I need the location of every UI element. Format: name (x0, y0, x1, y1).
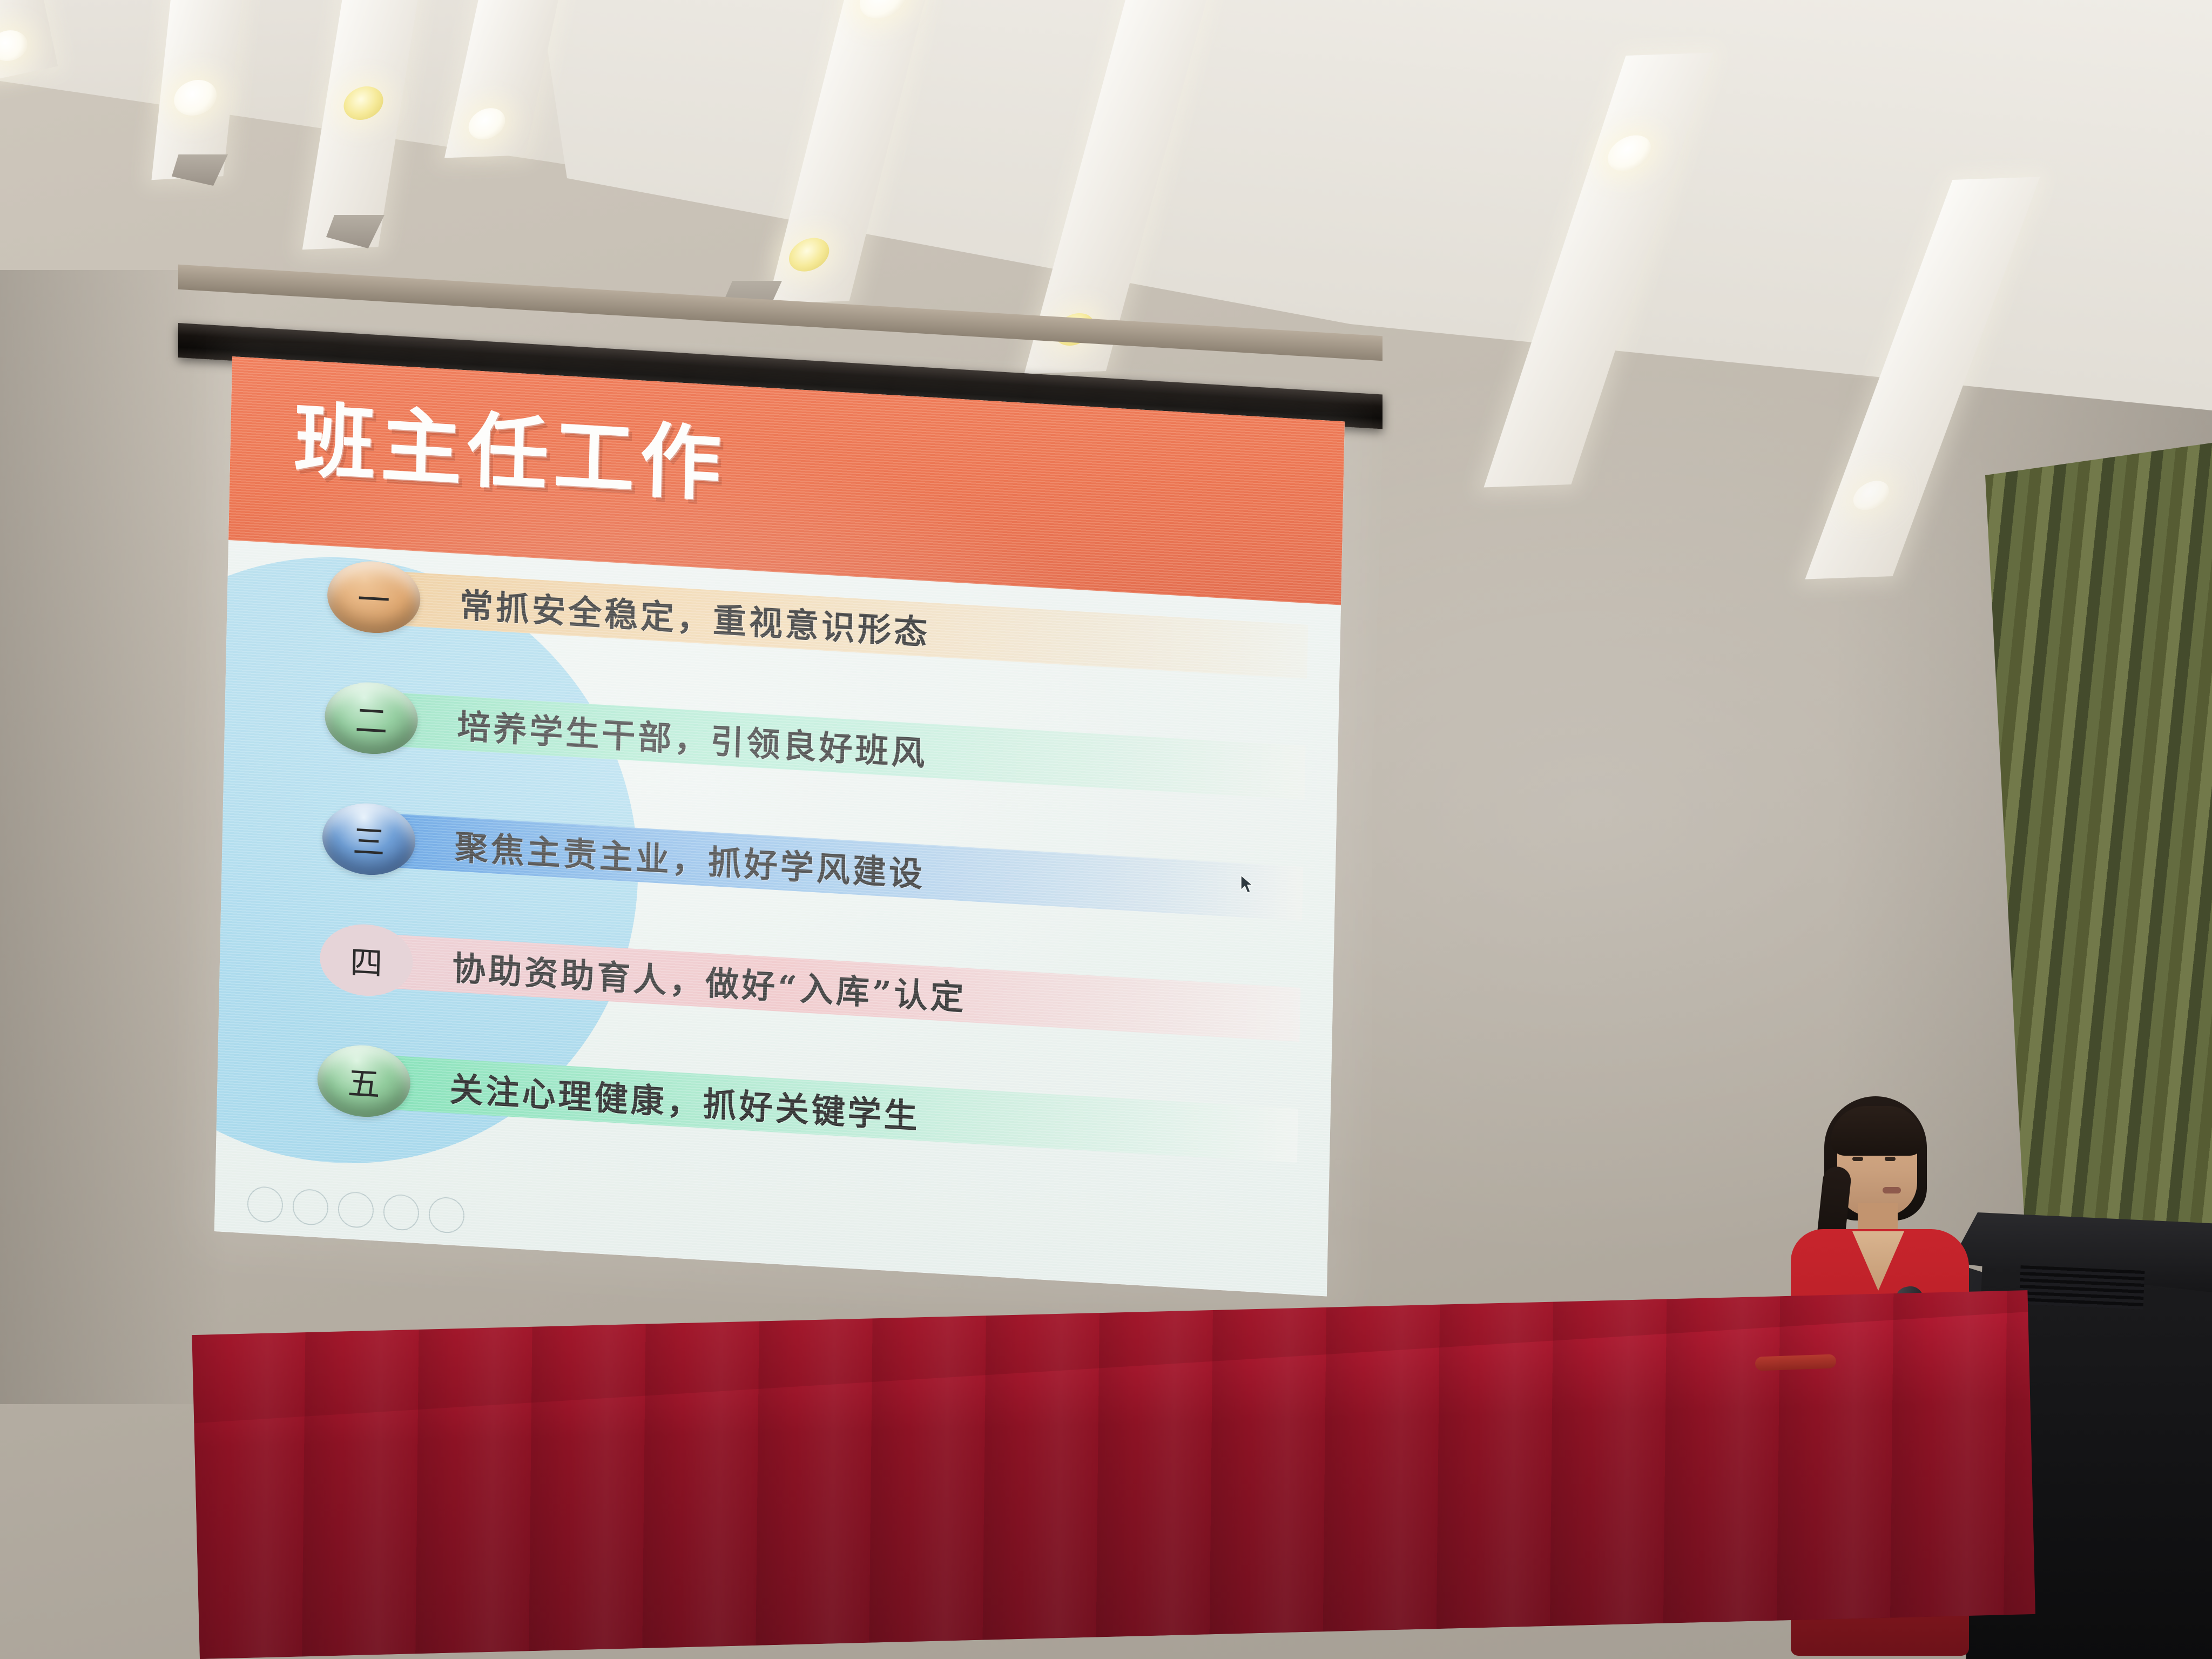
podium-control-panel[interactable] (2019, 1265, 2145, 1310)
mouse-cursor-icon (1240, 875, 1254, 894)
table-item (1755, 1354, 1837, 1371)
ceiling-downlight-icon (855, 0, 911, 19)
ceiling-downlight-icon (785, 237, 833, 272)
presenter-mouth (1883, 1187, 1901, 1193)
ceiling-downlight-icon (1603, 134, 1656, 172)
ceiling-downlight-icon (466, 107, 508, 140)
presenter-eye (1852, 1157, 1863, 1161)
ceiling-downlight-icon (341, 86, 386, 120)
ceiling-downlight-icon (172, 79, 219, 117)
presenter-eye (1885, 1157, 1896, 1161)
wall-left-shadow (0, 270, 227, 1404)
ceiling-downlight-icon (0, 27, 30, 64)
draped-table (192, 1290, 2035, 1659)
presenter-hair-front (1831, 1106, 1924, 1156)
table-drape-folds (192, 1290, 2035, 1659)
ceiling-downlight-icon (1849, 480, 1893, 510)
screenshot-stage: 班主任工作 一 常抓安全稳定，重视意识形态 二 培养学生干部，引领良好班风 三 … (0, 0, 2212, 1659)
